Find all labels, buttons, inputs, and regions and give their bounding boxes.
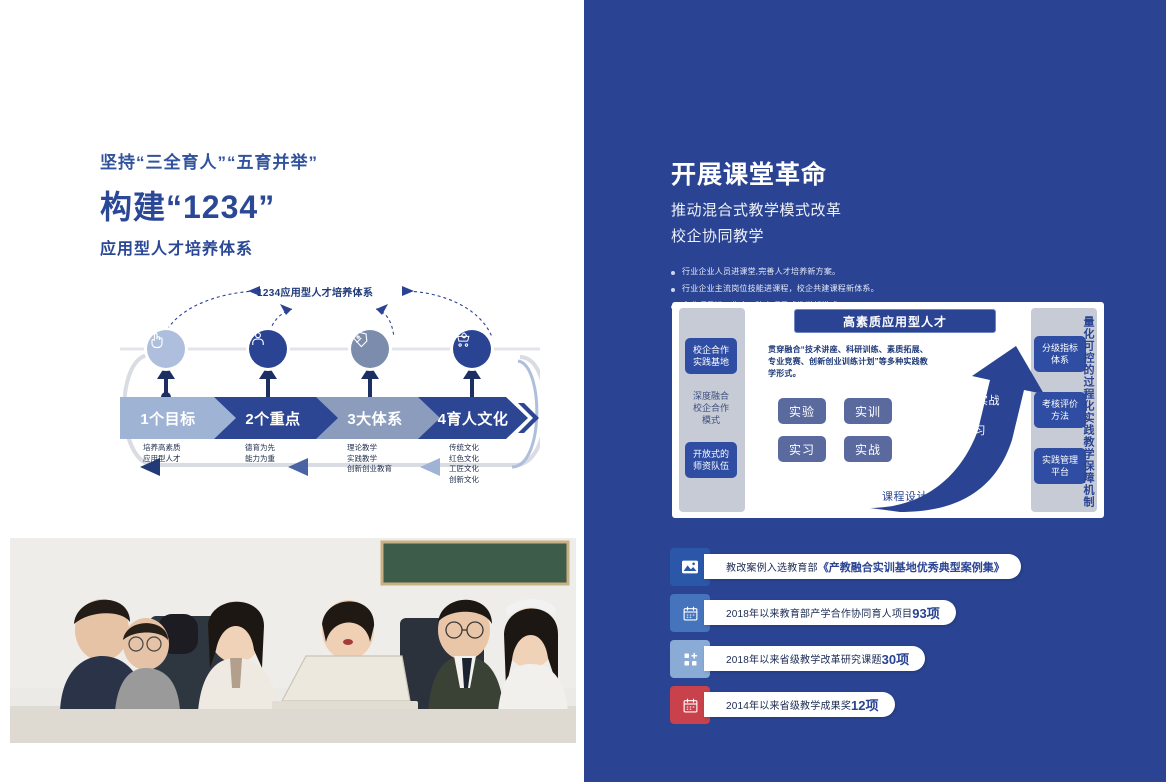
- step-2-desc: 德育为先能力为重: [245, 443, 275, 464]
- bullet-item: 行业企业主流岗位技能进课程，校企共建课程新体系。: [671, 283, 1111, 294]
- card-paragraph: 贯穿融合“技术讲座、科研训练、素质拓展、专业竞赛、创新创业训练计划”等多种实践教…: [768, 344, 928, 380]
- headline-subtitle: 应用型人才培养体系: [100, 235, 318, 259]
- achievement-text-1: 教改案例入选教育部: [726, 559, 818, 574]
- left-box-2[interactable]: 开放式的师资队伍: [685, 442, 737, 478]
- achievement-text-4: 2014年以来省级教学成果奖: [726, 697, 851, 712]
- right-subtitle-2: 校企协同教学: [671, 225, 1101, 246]
- step-2-label: 2个重点: [245, 408, 300, 429]
- card-banner-label: 高素质应用型人才: [843, 313, 947, 330]
- bullet-text: 行业企业主流岗位技能进课程，校企共建课程新体系。: [682, 283, 879, 294]
- arrow-label-2: 课程实训: [914, 452, 960, 468]
- bullet-item: 行业企业人员进课堂,完善人才培养新方案。: [671, 266, 1111, 277]
- talent-system-diagram: 1234应用型人才培养体系: [120, 285, 540, 510]
- achievement-pill: 2018年以来教育部产学合作协同育人项目 93项: [704, 600, 956, 625]
- diagram-arc-label: 1234应用型人才培养体系: [257, 284, 373, 299]
- left-headline: 坚持“三全育人”“五育并举” 构建“1234” 应用型人才培养体系: [100, 148, 318, 259]
- achievement-text-2: 2018年以来教育部产学合作协同育人项目: [726, 605, 912, 620]
- mid-box-1[interactable]: 实验: [778, 398, 826, 424]
- mid-box-3[interactable]: 实习: [778, 436, 826, 462]
- right-subtitle-1: 推动混合式教学模式改革: [671, 199, 1101, 220]
- achievement-pill: 教改案例入选教育部 《产教融合实训基地优秀典型案例集》: [704, 554, 1021, 579]
- step-3-desc: 理论教学实践教学创新创业教育: [347, 443, 392, 475]
- node-1[interactable]: [147, 330, 185, 368]
- diagram-node-row: [120, 330, 540, 374]
- step-1[interactable]: 1个目标: [120, 397, 216, 439]
- bullet-dot-icon: [671, 288, 675, 292]
- achievement-count-3: 30项: [882, 649, 909, 668]
- vertical-guarantee-text: 量化可控的过程化实践教学保障机制: [1076, 316, 1094, 508]
- step-2[interactable]: 2个重点: [225, 397, 321, 439]
- left-page: 坚持“三全育人”“五育并举” 构建“1234” 应用型人才培养体系: [0, 0, 584, 782]
- achievement-count-4: 12项: [851, 695, 878, 714]
- mid-box-2[interactable]: 实训: [844, 398, 892, 424]
- achievement-row-4[interactable]: 2014年以来省级教学成果奖 12项: [670, 686, 1070, 724]
- right-header: 开展课堂革命 推动混合式教学模式改革 校企协同教学: [671, 155, 1101, 246]
- achievement-row-1[interactable]: 教改案例入选教育部 《产教融合实训基地优秀典型案例集》: [670, 548, 1070, 586]
- arrow-label-3: 企业实习: [940, 422, 986, 438]
- step-chevron-bar: 1个目标 2个重点 3大体系 4育人文化: [120, 397, 540, 439]
- classroom-photo: [10, 538, 576, 743]
- step-3-label: 3大体系: [347, 408, 402, 429]
- achievement-text-3: 2018年以来省级教学改革研究课题: [726, 651, 882, 666]
- left-plain-text: 深度融合校企合作模式: [683, 390, 739, 426]
- node-2[interactable]: [249, 330, 287, 368]
- page-root: 坚持“三全育人”“五育并举” 构建“1234” 应用型人才培养体系: [0, 0, 1166, 782]
- bullet-dot-icon: [671, 271, 675, 275]
- achievement-emph-1: 《产教融合实训基地优秀典型案例集》: [818, 559, 1005, 575]
- achievement-pill: 2018年以来省级教学改革研究课题 30项: [704, 646, 925, 671]
- step-4[interactable]: 4育人文化: [423, 397, 523, 439]
- headline-title: 构建“1234”: [100, 182, 318, 228]
- step-4-label: 4育人文化: [438, 408, 509, 429]
- step-1-label: 1个目标: [140, 408, 195, 429]
- bullet-text: 行业企业人员进课堂,完善人才培养新方案。: [682, 266, 840, 277]
- step-3[interactable]: 3大体系: [327, 397, 423, 439]
- achievement-row-3[interactable]: 2018年以来省级教学改革研究课题 30项: [670, 640, 1070, 678]
- headline-eyebrow: 坚持“三全育人”“五育并举”: [100, 148, 318, 173]
- right-title: 开展课堂革命: [671, 155, 1101, 191]
- mid-box-4[interactable]: 实战: [844, 436, 892, 462]
- arrow-label-4: 项目实战: [954, 392, 1000, 408]
- node-4[interactable]: [453, 330, 491, 368]
- step-4-desc: 传统文化红色文化工匠文化创新文化: [449, 443, 479, 485]
- card-banner[interactable]: 高素质应用型人才: [794, 309, 996, 333]
- achievement-pill: 2014年以来省级教学成果奖 12项: [704, 692, 895, 717]
- practice-teaching-card: 高素质应用型人才 校企合作实践基地 深度融合校企合作模式 开放式的师资队伍 贯穿…: [672, 302, 1104, 518]
- arrow-label-1: 课程设计: [882, 488, 928, 504]
- photo-illustration: [10, 538, 576, 743]
- achievement-count-2: 93项: [912, 603, 939, 622]
- left-box-1[interactable]: 校企合作实践基地: [685, 338, 737, 374]
- step-1-desc: 培养高素质应用型人才: [143, 443, 181, 464]
- node-3[interactable]: [351, 330, 389, 368]
- achievement-row-2[interactable]: 2018年以来教育部产学合作协同育人项目 93项: [670, 594, 1070, 632]
